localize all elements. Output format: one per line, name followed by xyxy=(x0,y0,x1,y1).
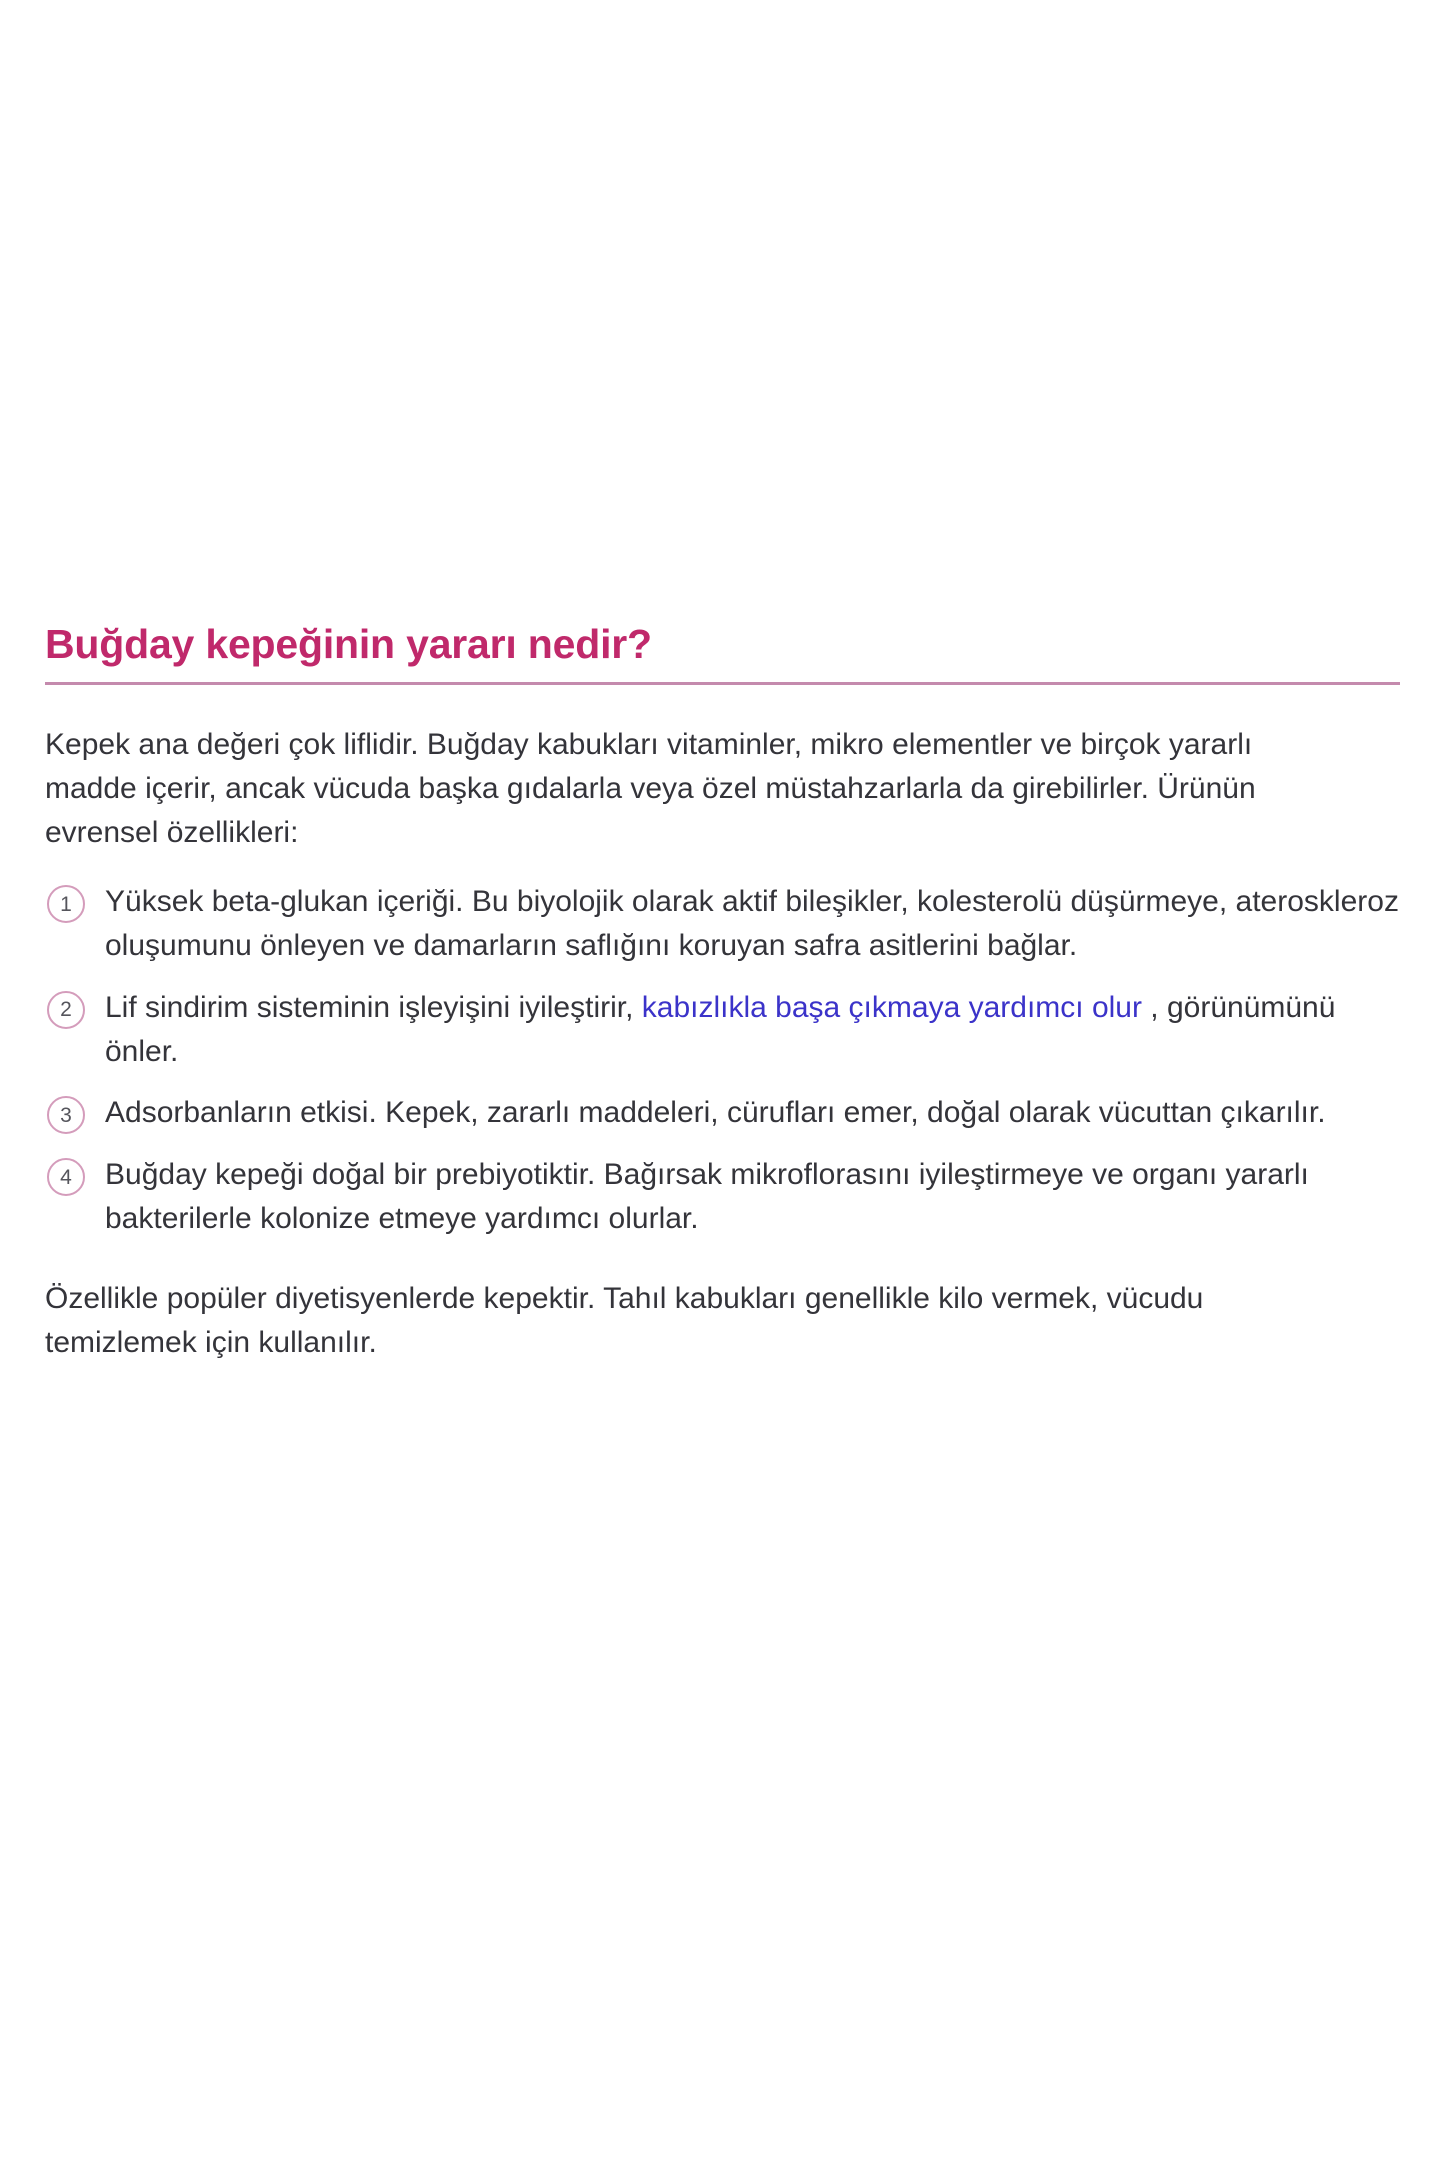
list-marker-number: 2 xyxy=(47,991,85,1029)
intro-paragraph: Kepek ana değeri çok liflidir. Buğday ka… xyxy=(45,685,1350,854)
list-marker-number: 3 xyxy=(47,1096,85,1134)
list-item: 3 Adsorbanların etkisi. Kepek, zararlı m… xyxy=(45,1091,1400,1135)
page-title: Buğday kepeğinin yararı nedir? xyxy=(45,622,1400,685)
outro-paragraph: Özellikle popüler diyetisyenlerde kepekt… xyxy=(45,1241,1335,1365)
list-item: 2 Lif sindirim sisteminin işleyişini iyi… xyxy=(45,986,1400,1074)
list-item-text: Lif sindirim sisteminin işleyişini iyile… xyxy=(105,986,1400,1074)
list-item-text-before: Lif sindirim sisteminin işleyişini iyile… xyxy=(105,991,642,1024)
list-item-text: Buğday kepeği doğal bir prebiyotiktir. B… xyxy=(105,1153,1400,1241)
list-marker-number: 1 xyxy=(47,885,85,923)
page-canvas: Buğday kepeğinin yararı nedir? Kepek ana… xyxy=(0,0,1440,2160)
article: Buğday kepeğinin yararı nedir? Kepek ana… xyxy=(45,622,1400,1364)
benefit-list: 1 Yüksek beta-glukan içeriği. Bu biyoloj… xyxy=(45,854,1400,1241)
list-item: 1 Yüksek beta-glukan içeriği. Bu biyoloj… xyxy=(45,880,1400,968)
list-item-text: Yüksek beta-glukan içeriği. Bu biyolojik… xyxy=(105,880,1400,968)
list-item-text: Adsorbanların etkisi. Kepek, zararlı mad… xyxy=(105,1091,1400,1135)
list-marker-number: 4 xyxy=(47,1158,85,1196)
constipation-help-link[interactable]: kabızlıkla başa çıkmaya yardımcı olur xyxy=(642,991,1142,1024)
list-item: 4 Buğday kepeği doğal bir prebiyotiktir.… xyxy=(45,1153,1400,1241)
